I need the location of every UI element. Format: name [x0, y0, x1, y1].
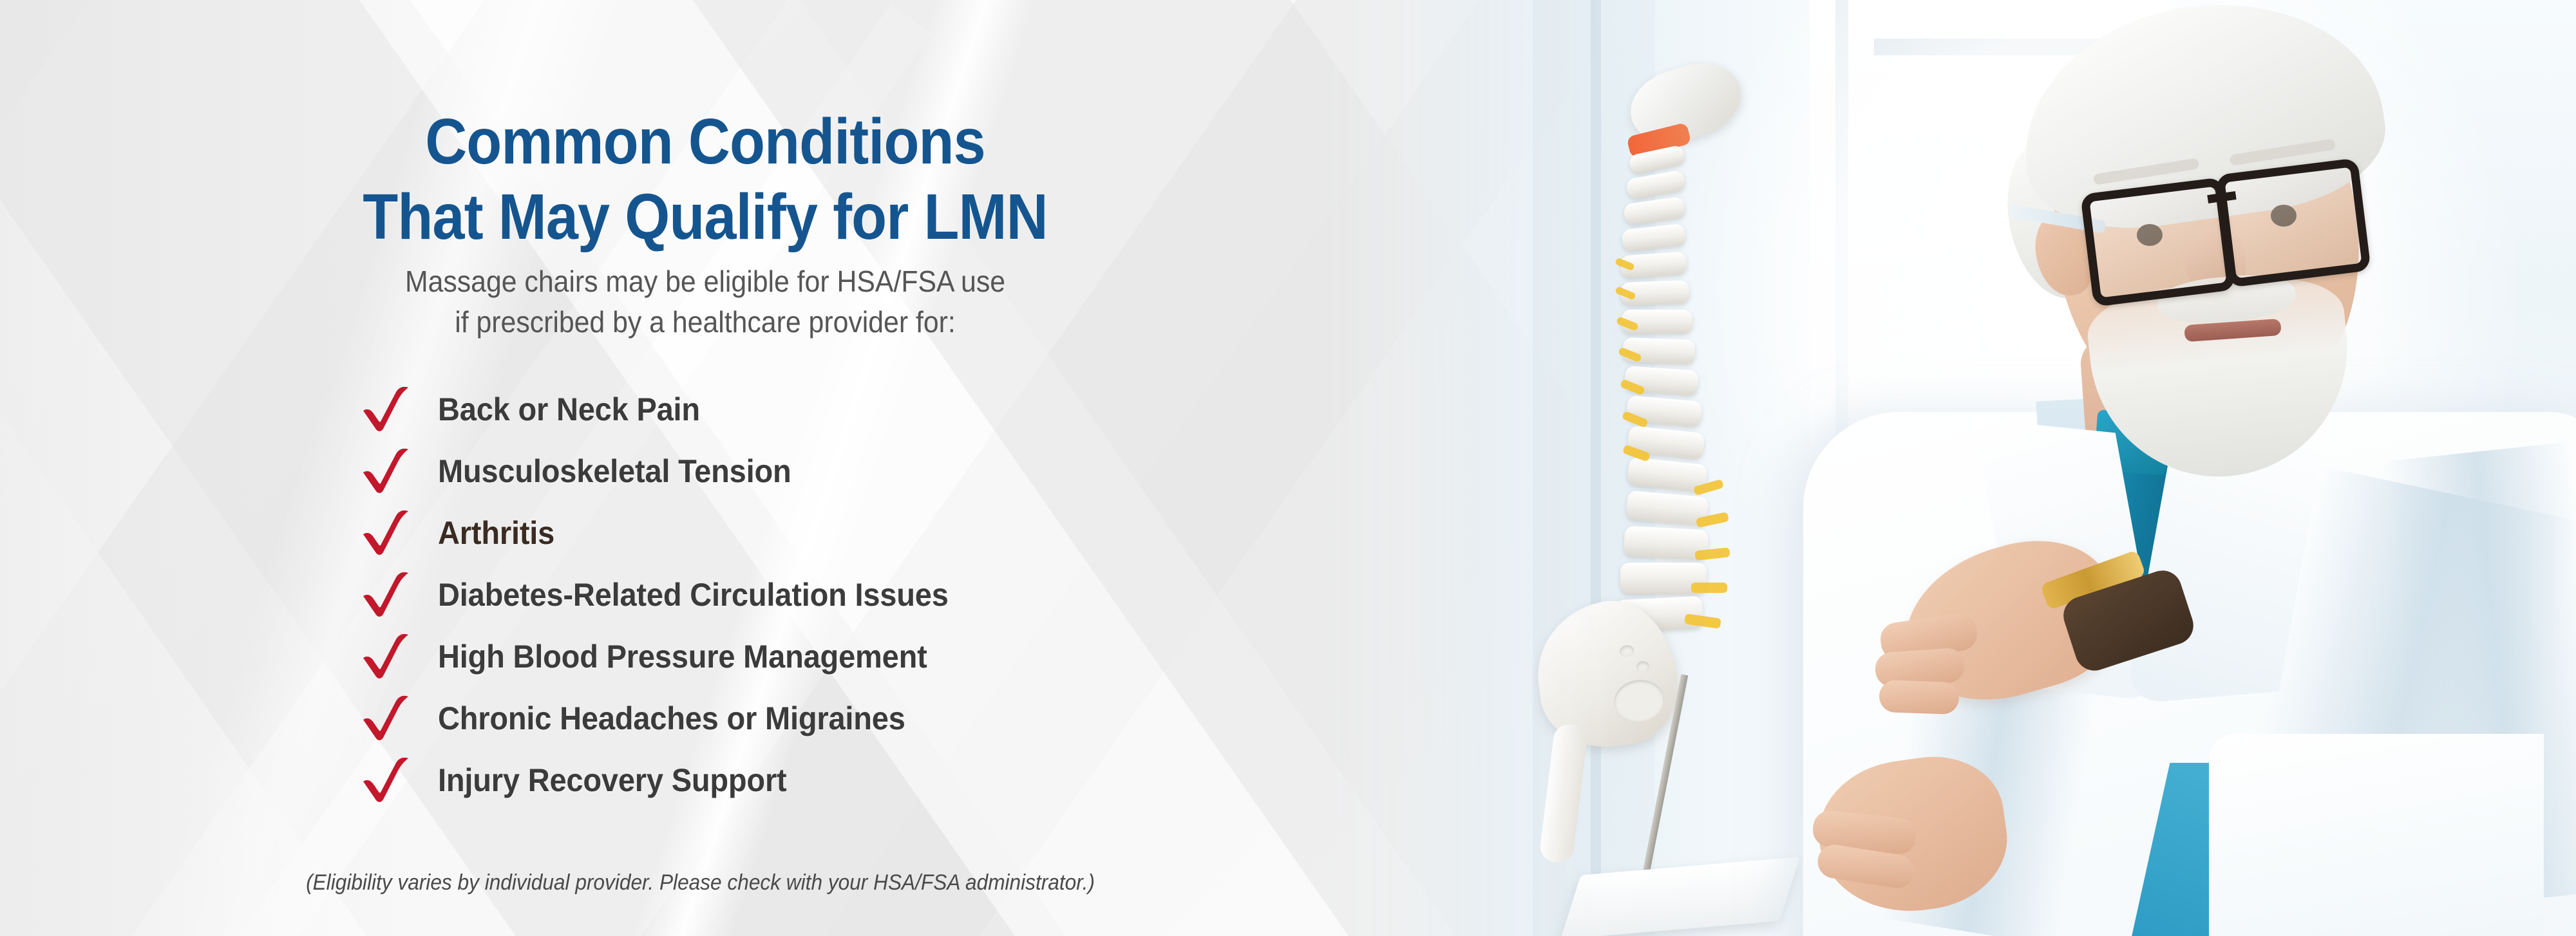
subtitle: Massage chairs may be eligible for HSA/F…	[50, 261, 1361, 343]
pelvis-foramen	[1619, 644, 1634, 658]
checkmark-icon	[361, 633, 438, 680]
checkmark-icon	[361, 572, 438, 618]
vertebra	[1623, 196, 1686, 226]
eyeglasses-lens	[2215, 158, 2371, 288]
list-item-label: High Blood Pressure Management	[438, 638, 927, 675]
checkmark-icon	[361, 695, 438, 742]
pelvis-foramen	[1611, 677, 1667, 724]
list-item: Chronic Headaches or Migraines	[361, 688, 1262, 749]
list-item-label: Back or Neck Pain	[438, 391, 700, 428]
eligibility-disclaimer: (Eligibility varies by individual provid…	[49, 870, 1352, 895]
doctor-with-spine-model-photo	[1320, 0, 2576, 936]
list-item-label: Injury Recovery Support	[438, 762, 787, 799]
conditions-list: Back or Neck Pain Musculoskeletal Tensio…	[361, 379, 1262, 811]
checkmark-icon	[361, 757, 438, 803]
list-item-label: Musculoskeletal Tension	[438, 453, 791, 490]
lmn-conditions-banner: Common Conditions That May Qualify for L…	[0, 0, 2576, 936]
page-title-line-1: Common Conditions	[425, 106, 985, 178]
vertebra	[1625, 169, 1686, 200]
checkmark-icon	[361, 510, 438, 556]
list-item-label: Chronic Headaches or Migraines	[438, 700, 905, 737]
list-item: Back or Neck Pain	[361, 379, 1262, 440]
vertebra	[1621, 223, 1686, 252]
text-content-panel: Common Conditions That May Qualify for L…	[0, 0, 1288, 936]
list-item: Arthritis	[361, 502, 1262, 564]
subtitle-line-2: if prescribed by a healthcare provider f…	[50, 302, 1361, 342]
list-item: High Blood Pressure Management	[361, 626, 1262, 688]
list-item: Injury Recovery Support	[361, 749, 1262, 811]
checkmark-icon	[361, 386, 438, 433]
list-item-label: Diabetes-Related Circulation Issues	[438, 576, 949, 613]
list-item-label: Arthritis	[438, 514, 554, 552]
lab-coat-front	[2209, 734, 2544, 936]
page-title-line-2: That May Qualify for LMN	[71, 180, 1340, 255]
checkmark-icon	[361, 448, 438, 494]
list-item: Diabetes-Related Circulation Issues	[361, 564, 1262, 626]
pelvis-foramen	[1636, 660, 1650, 673]
subtitle-line-1: Massage chairs may be eligible for HSA/F…	[50, 261, 1361, 302]
list-item: Musculoskeletal Tension	[361, 440, 1262, 502]
finger	[1879, 680, 1960, 715]
doctor-figure	[1707, 0, 2576, 936]
page-title: Common Conditions That May Qualify for L…	[71, 104, 1340, 255]
